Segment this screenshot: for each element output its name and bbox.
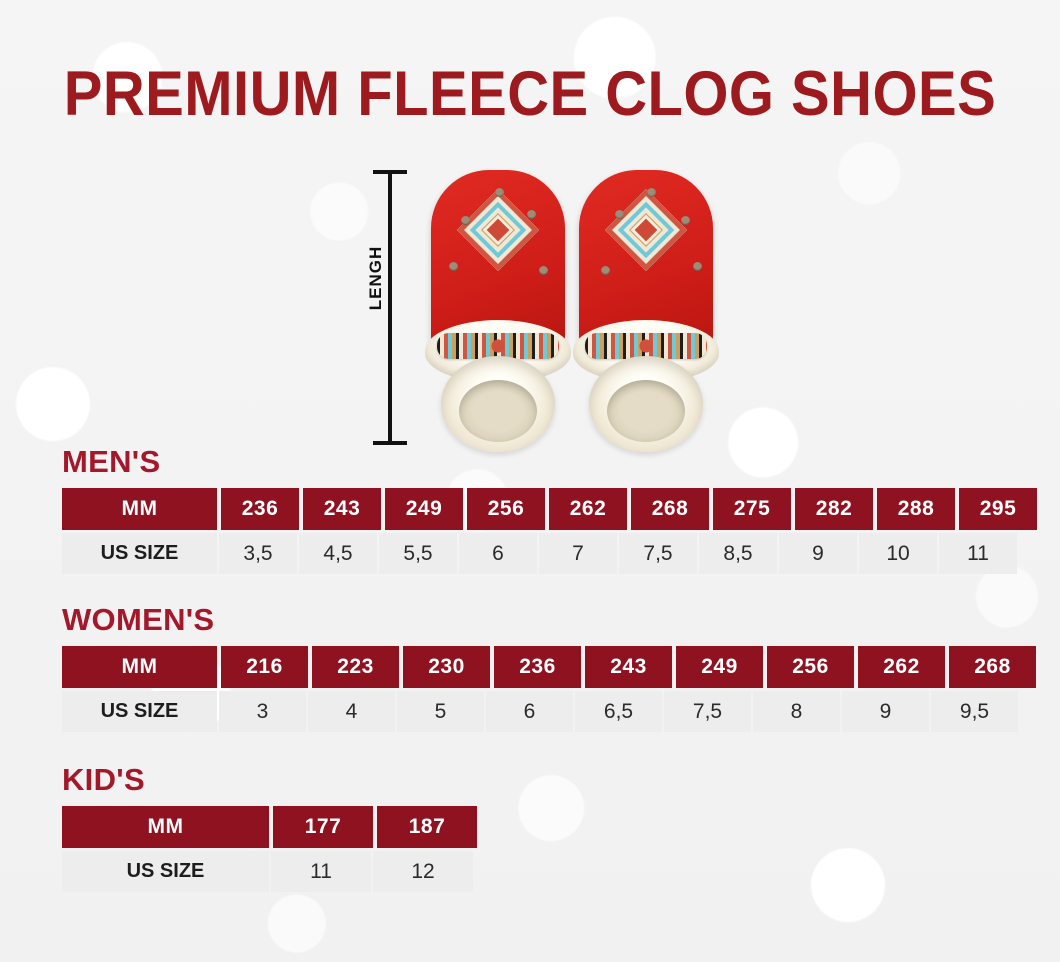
size-chart-page: PREMIUM FLEECE CLOG SHOES LENGH — [0, 0, 1060, 962]
stud-icon — [461, 216, 470, 225]
mm-value-cell: 230 — [403, 646, 490, 688]
us-size-value-cell: 5 — [397, 691, 484, 732]
us-size-value-cell: 3 — [219, 691, 306, 732]
us-size-value-cell: 5,5 — [379, 533, 457, 574]
mm-value-cell: 223 — [312, 646, 399, 688]
stud-icon — [495, 188, 504, 197]
mm-value-cell: 177 — [273, 806, 373, 848]
table-row: US SIZE3,54,55,5677,58,591011 — [62, 533, 1037, 574]
mm-value-cell: 236 — [221, 488, 299, 530]
row-label-us-size: US SIZE — [62, 851, 269, 892]
stud-icon — [681, 216, 690, 225]
us-size-value-cell: 7,5 — [664, 691, 751, 732]
mm-value-cell: 249 — [385, 488, 463, 530]
section-heading-kid: KID'S — [62, 762, 145, 798]
mm-value-cell: 275 — [713, 488, 791, 530]
mm-value-cell: 282 — [795, 488, 873, 530]
mm-value-cell: 288 — [877, 488, 955, 530]
table-header-row: MM216223230236243249256262268 — [62, 646, 1036, 688]
table-header-row: MM177187 — [62, 806, 477, 848]
us-size-value-cell: 4,5 — [299, 533, 377, 574]
left-clog — [425, 170, 571, 452]
us-size-value-cell: 11 — [271, 851, 371, 892]
product-illustration: LENGH — [355, 160, 735, 460]
mm-value-cell: 243 — [303, 488, 381, 530]
row-label-mm: MM — [62, 806, 269, 848]
stud-icon — [601, 266, 610, 275]
size-table-women: MM216223230236243249256262268US SIZE3456… — [62, 646, 1036, 732]
stud-icon — [693, 262, 702, 271]
mm-value-cell: 243 — [585, 646, 672, 688]
dimension-cap-bottom — [373, 441, 407, 445]
section-heading-women: WOMEN'S — [62, 602, 214, 638]
table-row: US SIZE1112 — [62, 851, 477, 892]
us-size-value-cell: 10 — [859, 533, 937, 574]
us-size-value-cell: 9 — [779, 533, 857, 574]
mm-value-cell: 262 — [858, 646, 945, 688]
dimension-stem — [388, 172, 392, 443]
stud-icon — [527, 210, 536, 219]
stud-icon — [615, 210, 624, 219]
us-size-value-cell: 6 — [459, 533, 537, 574]
right-clog — [573, 170, 719, 452]
us-size-value-cell: 9 — [842, 691, 929, 732]
mm-value-cell: 268 — [949, 646, 1036, 688]
mm-value-cell: 187 — [377, 806, 477, 848]
mm-value-cell: 236 — [494, 646, 581, 688]
size-table-men: MM236243249256262268275282288295US SIZE3… — [62, 488, 1037, 574]
mm-value-cell: 262 — [549, 488, 627, 530]
clog-shoes-image — [425, 164, 725, 456]
mm-value-cell: 256 — [767, 646, 854, 688]
row-label-mm: MM — [62, 488, 217, 530]
us-size-value-cell: 7 — [539, 533, 617, 574]
us-size-value-cell: 6 — [486, 691, 573, 732]
us-size-value-cell: 3,5 — [219, 533, 297, 574]
us-size-value-cell: 12 — [373, 851, 473, 892]
row-label-us-size: US SIZE — [62, 691, 217, 732]
us-size-value-cell: 7,5 — [619, 533, 697, 574]
stud-icon — [449, 262, 458, 271]
us-size-value-cell: 9,5 — [931, 691, 1018, 732]
mm-value-cell: 216 — [221, 646, 308, 688]
mm-value-cell: 268 — [631, 488, 709, 530]
stud-icon — [647, 188, 656, 197]
stud-icon — [539, 266, 548, 275]
row-label-mm: MM — [62, 646, 217, 688]
section-heading-men: MEN'S — [62, 444, 160, 480]
table-row: US SIZE34566,57,5899,5 — [62, 691, 1036, 732]
us-size-value-cell: 8,5 — [699, 533, 777, 574]
mm-value-cell: 249 — [676, 646, 763, 688]
us-size-value-cell: 6,5 — [575, 691, 662, 732]
page-title: PREMIUM FLEECE CLOG SHOES — [42, 58, 1017, 130]
size-table-kid: MM177187US SIZE1112 — [62, 806, 477, 892]
mm-value-cell: 256 — [467, 488, 545, 530]
us-size-value-cell: 11 — [939, 533, 1017, 574]
length-label: LENGH — [366, 233, 386, 323]
table-header-row: MM236243249256262268275282288295 — [62, 488, 1037, 530]
right-foot-opening — [607, 380, 685, 442]
us-size-value-cell: 8 — [753, 691, 840, 732]
mm-value-cell: 295 — [959, 488, 1037, 530]
us-size-value-cell: 4 — [308, 691, 395, 732]
left-foot-opening — [459, 380, 537, 442]
row-label-us-size: US SIZE — [62, 533, 217, 574]
